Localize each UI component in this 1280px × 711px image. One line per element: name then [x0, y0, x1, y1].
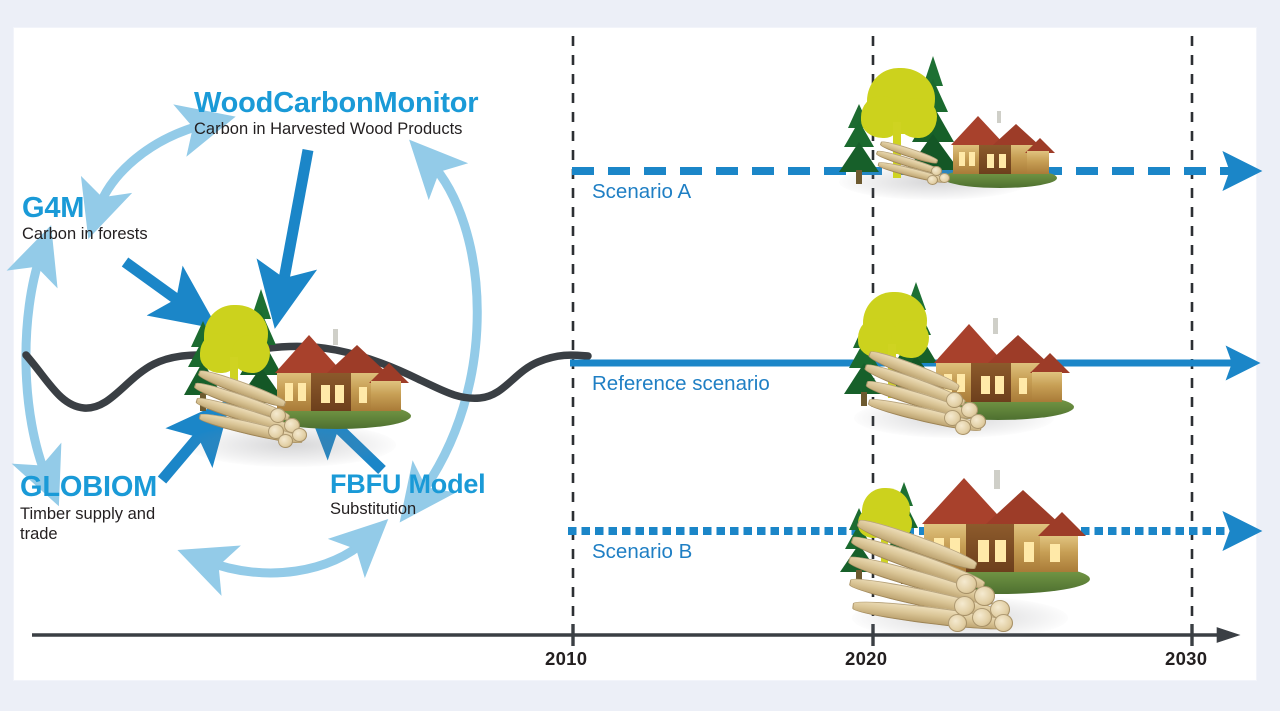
forest-house-logs-icon-scenario-b [834, 446, 1084, 641]
year-label-2010: 2010 [545, 648, 587, 670]
forest-house-logs-icon-reference-scenario [832, 268, 1072, 443]
model-title-g4m: G4M [22, 193, 148, 223]
double-headed-arrow-woodcarbonmonitor-fbfu [418, 162, 477, 498]
log-pile-icon [192, 378, 322, 450]
model-label-globiom: GLOBIOM Timber supply and trade [20, 472, 180, 544]
diagram-panel: WoodCarbonMonitor Carbon in Harvested Wo… [14, 28, 1256, 680]
log-pile-icon [862, 360, 1002, 442]
log-pile-icon [875, 144, 965, 188]
log-pile-icon [844, 534, 1034, 638]
model-title-globiom: GLOBIOM [20, 472, 180, 502]
model-label-fbfu: FBFU Model Substitution [330, 470, 485, 520]
scenario-label-reference-scenario: Reference scenario [592, 372, 770, 396]
double-headed-arrow-globiom-fbfu [206, 540, 366, 573]
solid-arrow-woodcarbonmonitor-to-scene [282, 150, 308, 290]
year-label-2020: 2020 [845, 648, 887, 670]
scenario-label-scenario-a: Scenario A [592, 180, 691, 204]
model-label-g4m: G4M Carbon in forests [22, 193, 148, 245]
forest-house-logs-icon-central [174, 283, 404, 468]
year-label-2030: 2030 [1165, 648, 1207, 670]
model-description-g4m: Carbon in forests [22, 225, 148, 244]
scenario-label-scenario-b: Scenario B [592, 540, 692, 564]
model-title-fbfu: FBFU Model [330, 470, 485, 498]
forest-house-logs-icon-scenario-a [819, 46, 1054, 206]
model-description-globiom: Timber supply and trade [20, 505, 180, 544]
model-label-wood-carbon-monitor: WoodCarbonMonitor Carbon in Harvested Wo… [194, 88, 478, 140]
model-title-wood-carbon-monitor: WoodCarbonMonitor [194, 88, 478, 118]
model-description-wood-carbon-monitor: Carbon in Harvested Wood Products [194, 120, 478, 139]
model-description-fbfu: Substitution [330, 500, 485, 519]
